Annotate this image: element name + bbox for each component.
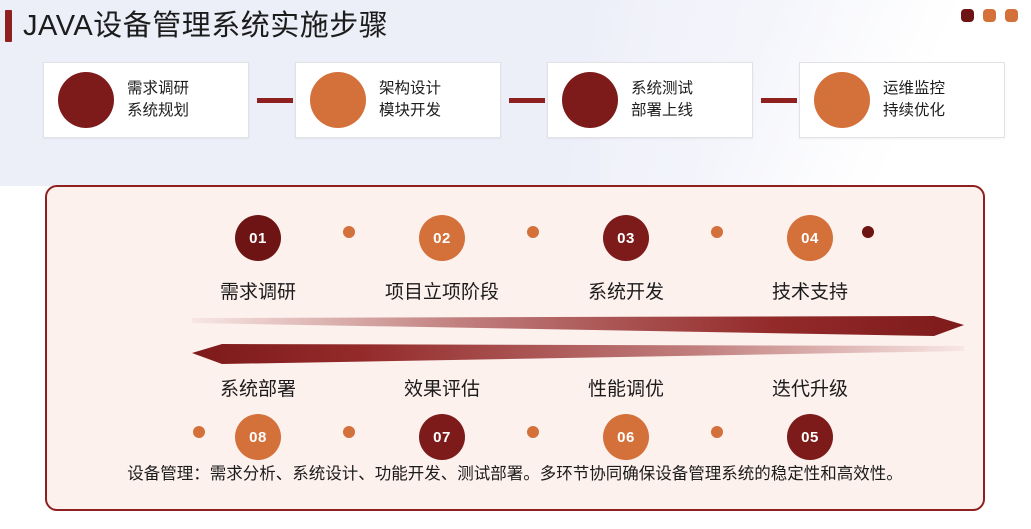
step-bullet-2-icon bbox=[310, 72, 366, 128]
stage-circle-03[interactable]: 03 bbox=[603, 215, 649, 261]
step-card-3-line1: 系统测试 bbox=[631, 78, 693, 100]
step-card-3-text: 系统测试 部署上线 bbox=[631, 78, 693, 122]
stage-label-03: 系统开发 bbox=[526, 277, 726, 304]
step-card-4-line2: 持续优化 bbox=[883, 100, 945, 122]
stage-number-08: 08 bbox=[249, 429, 267, 446]
step-card-4-text: 运维监控 持续优化 bbox=[883, 78, 945, 122]
header-dot-1-icon bbox=[961, 9, 974, 22]
stage-label-07: 效果评估 bbox=[342, 374, 542, 401]
mini-dot-bottom-1-icon bbox=[193, 426, 205, 438]
step-card-4-line1: 运维监控 bbox=[883, 78, 945, 100]
stage-circle-06[interactable]: 06 bbox=[603, 414, 649, 460]
step-card-2[interactable]: 架构设计 模块开发 bbox=[295, 62, 501, 138]
flow-arrow-right-icon bbox=[192, 314, 964, 345]
mini-dot-top-3-icon bbox=[711, 226, 723, 238]
step-card-1-line1: 需求调研 bbox=[127, 78, 189, 100]
stage-circle-01[interactable]: 01 bbox=[235, 215, 281, 261]
stage-number-03: 03 bbox=[617, 230, 635, 247]
stage-circle-05[interactable]: 05 bbox=[787, 414, 833, 460]
stage-label-02: 项目立项阶段 bbox=[342, 277, 542, 304]
step-connector-1 bbox=[257, 98, 293, 103]
page-title: JAVA设备管理系统实施步骤 bbox=[23, 6, 388, 46]
stage-label-08: 系统部署 bbox=[158, 374, 358, 401]
mini-dot-top-2-icon bbox=[527, 226, 539, 238]
step-bullet-4-icon bbox=[814, 72, 870, 128]
mini-dot-bottom-3-icon bbox=[527, 426, 539, 438]
step-card-3-line2: 部署上线 bbox=[631, 100, 693, 122]
step-card-row: 需求调研 系统规划 架构设计 模块开发 系统测试 部署上线 运维监控 持续优化 bbox=[0, 62, 1031, 154]
stage-label-04: 技术支持 bbox=[710, 277, 910, 304]
step-card-4[interactable]: 运维监控 持续优化 bbox=[799, 62, 1005, 138]
flow-arrow-left-icon bbox=[192, 342, 964, 373]
mini-dot-top-1-icon bbox=[343, 226, 355, 238]
stage-circle-04[interactable]: 04 bbox=[787, 215, 833, 261]
step-card-3[interactable]: 系统测试 部署上线 bbox=[547, 62, 753, 138]
stage-label-06: 性能调优 bbox=[526, 374, 726, 401]
step-bullet-1-icon bbox=[58, 72, 114, 128]
step-card-1-line2: 系统规划 bbox=[127, 100, 189, 122]
title-accent-bar bbox=[5, 10, 12, 42]
panel-caption: 设备管理：需求分析、系统设计、功能开发、测试部署。多环节协同确保设备管理系统的稳… bbox=[45, 460, 985, 484]
slide-header: JAVA设备管理系统实施步骤 bbox=[0, 0, 1031, 54]
stage-number-06: 06 bbox=[617, 429, 635, 446]
header-dot-3-icon bbox=[1005, 9, 1018, 22]
header-dot-group bbox=[961, 9, 1018, 22]
stage-circle-02[interactable]: 02 bbox=[419, 215, 465, 261]
step-card-2-text: 架构设计 模块开发 bbox=[379, 78, 441, 122]
step-card-1[interactable]: 需求调研 系统规划 bbox=[43, 62, 249, 138]
step-bullet-3-icon bbox=[562, 72, 618, 128]
stage-label-05: 迭代升级 bbox=[710, 374, 910, 401]
stage-number-07: 07 bbox=[433, 429, 451, 446]
stage-number-02: 02 bbox=[433, 230, 451, 247]
step-connector-2 bbox=[509, 98, 545, 103]
stage-circle-08[interactable]: 08 bbox=[235, 414, 281, 460]
mini-dot-top-4-icon bbox=[862, 226, 874, 238]
mini-dot-bottom-4-icon bbox=[711, 426, 723, 438]
header-dot-2-icon bbox=[983, 9, 996, 22]
mini-dot-bottom-2-icon bbox=[343, 426, 355, 438]
step-card-1-text: 需求调研 系统规划 bbox=[127, 78, 189, 122]
step-connector-3 bbox=[761, 98, 797, 103]
stage-label-01: 需求调研 bbox=[158, 277, 358, 304]
stage-number-04: 04 bbox=[801, 230, 819, 247]
stage-number-01: 01 bbox=[249, 230, 267, 247]
step-card-2-line1: 架构设计 bbox=[379, 78, 441, 100]
stage-circle-07[interactable]: 07 bbox=[419, 414, 465, 460]
step-card-2-line2: 模块开发 bbox=[379, 100, 441, 122]
stage-number-05: 05 bbox=[801, 429, 819, 446]
